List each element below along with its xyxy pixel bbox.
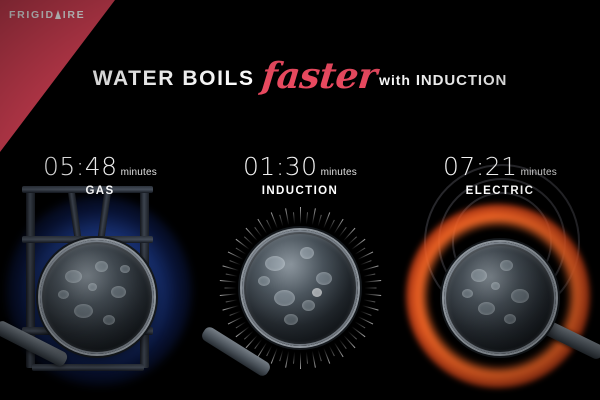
- headline-part1: WATER BOILS: [93, 67, 255, 90]
- stat-induction-time: 01:30: [243, 152, 318, 181]
- induction-ray: [300, 352, 301, 369]
- headline-part2: with INDUCTION: [379, 72, 507, 89]
- induction-ray: [363, 274, 375, 277]
- induction-ray: [285, 208, 289, 225]
- induction-ray: [360, 260, 372, 265]
- induction-ray: [312, 351, 316, 368]
- headline: WATER BOILSfasterwith INDUCTION: [0, 55, 600, 97]
- induction-ray: [222, 305, 239, 311]
- induction-ray: [226, 299, 238, 302]
- induction-ray: [358, 251, 374, 259]
- induction-ray: [306, 212, 308, 224]
- induction-ray: [226, 274, 238, 277]
- headline-part2-caps: INDUCTION: [416, 72, 507, 89]
- infographic-canvas: 05:48minutes GAS: [0, 0, 600, 400]
- induction-ray: [364, 280, 381, 283]
- logo-text-after-a: IRE: [63, 9, 86, 21]
- stat-electric-label: ELECTRIC: [400, 185, 600, 197]
- induction-ray: [293, 212, 295, 224]
- electric-pot: [444, 242, 556, 354]
- logo-triangle-a-icon: [55, 10, 62, 19]
- induction-ray: [222, 265, 239, 271]
- induction-ray: [225, 288, 237, 289]
- stat-induction-time-row: 01:30minutes: [200, 152, 400, 181]
- induction-ray: [362, 265, 379, 271]
- grate-crossbar-lower: [32, 364, 144, 371]
- induction-ray: [365, 288, 377, 289]
- induction-ray: [360, 311, 372, 316]
- induction-ray: [323, 212, 330, 228]
- induction-ray: [285, 351, 289, 368]
- stat-gas: 05:48minutes GAS: [0, 152, 200, 197]
- induction-ray: [271, 347, 278, 363]
- induction-ray: [329, 345, 335, 356]
- stat-electric-time-row: 07:21minutes: [400, 152, 600, 181]
- headline-part2-small: with: [379, 72, 411, 88]
- induction-ray: [271, 212, 278, 228]
- induction-ray: [318, 215, 322, 227]
- induction-ray: [220, 293, 237, 296]
- induction-ray: [279, 349, 283, 361]
- induction-ray: [220, 280, 237, 283]
- induction-ray: [364, 293, 381, 296]
- induction-ray: [279, 215, 283, 227]
- induction-ray: [266, 345, 272, 356]
- stat-gas-label: GAS: [0, 185, 200, 197]
- induction-ray: [323, 347, 330, 363]
- logo-text-before-a: FRIGID: [9, 9, 55, 21]
- gas-pot-rim: [40, 240, 154, 354]
- induction-ray: [300, 207, 301, 224]
- induction-ray: [306, 352, 308, 364]
- induction-ray: [363, 299, 375, 302]
- stat-induction-unit: minutes: [321, 167, 357, 178]
- gas-pot: [40, 240, 154, 354]
- induction-ray: [229, 260, 241, 265]
- induction-ray: [318, 349, 322, 361]
- induction-pot-rim: [242, 230, 358, 346]
- stat-electric-time: 07:21: [443, 152, 518, 181]
- headline-script-word: faster: [259, 55, 378, 97]
- induction-ray: [362, 305, 379, 311]
- stat-electric-unit: minutes: [521, 167, 557, 178]
- stat-induction-label: INDUCTION: [200, 185, 400, 197]
- electric-pot-rim: [444, 242, 556, 354]
- stat-electric: 07:21minutes ELECTRIC: [400, 152, 600, 197]
- frigidaire-logo: FRIGIDIRE: [9, 9, 85, 21]
- induction-ray: [229, 311, 241, 316]
- stat-gas-time: 05:48: [43, 152, 118, 181]
- stat-induction: 01:30minutes INDUCTION: [200, 152, 400, 197]
- stat-gas-unit: minutes: [121, 167, 157, 178]
- stat-gas-time-row: 05:48minutes: [0, 152, 200, 181]
- induction-ray: [312, 208, 316, 225]
- induction-ray: [293, 352, 295, 364]
- induction-pot: [242, 230, 358, 346]
